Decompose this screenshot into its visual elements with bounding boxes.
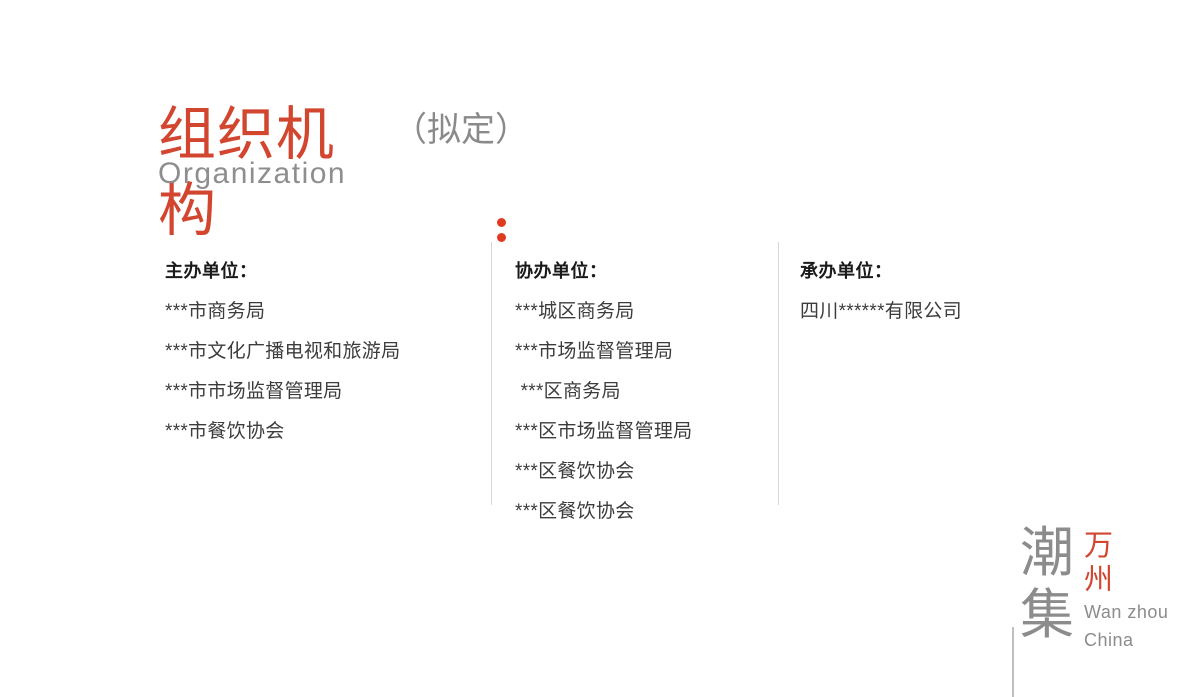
logo-english-line-1: Wan zhou bbox=[1084, 598, 1168, 626]
column-item-list: ***城区商务局 ***市场监督管理局 ***区商务局 ***区市场监督管理局 … bbox=[515, 292, 773, 532]
list-item: ***市餐饮协会 bbox=[165, 412, 495, 452]
logo-accent-char-1: 万 bbox=[1084, 528, 1124, 562]
list-item: ***市市场监督管理局 bbox=[165, 372, 495, 412]
list-item: ***区餐饮协会 bbox=[515, 492, 773, 532]
column-co-organizer: 协办单位： ***城区商务局 ***市场监督管理局 ***区商务局 ***区市场… bbox=[515, 258, 773, 532]
logo-english-line-2: China bbox=[1084, 626, 1168, 654]
list-item: ***市商务局 bbox=[165, 292, 495, 332]
list-item: 四川******有限公司 bbox=[800, 292, 1100, 332]
list-item: ***城区商务局 bbox=[515, 292, 773, 332]
organization-columns: 主办单位： ***市商务局 ***市文化广播电视和旅游局 ***市市场监督管理局… bbox=[0, 258, 1200, 548]
logo-primary-characters: 潮 集 bbox=[1020, 522, 1082, 646]
logo-primary-char-1: 潮 bbox=[1020, 522, 1082, 584]
logo-english-text: Wan zhou China bbox=[1084, 598, 1168, 654]
column-heading: 协办单位： bbox=[515, 258, 773, 284]
list-item: ***市场监督管理局 bbox=[515, 332, 773, 372]
logo-accent-char-2: 州 bbox=[1084, 562, 1124, 596]
list-item: ***区商务局 bbox=[515, 372, 773, 412]
logo-vertical-rule bbox=[1012, 627, 1014, 697]
slide-canvas: 组织机构 Organization （拟定） 主办单位： ***市商务局 ***… bbox=[0, 0, 1200, 675]
list-item: ***区市场监督管理局 bbox=[515, 412, 773, 452]
title-block: 组织机构 Organization （拟定） bbox=[158, 96, 578, 256]
column-host: 承办单位： 四川******有限公司 bbox=[800, 258, 1100, 332]
column-item-list: 四川******有限公司 bbox=[800, 292, 1100, 332]
page-title-english: Organization bbox=[158, 157, 346, 191]
column-heading: 承办单位： bbox=[800, 258, 1100, 284]
title-colon-icon bbox=[497, 215, 509, 245]
column-item-list: ***市商务局 ***市文化广播电视和旅游局 ***市市场监督管理局 ***市餐… bbox=[165, 292, 495, 452]
column-organizer: 主办单位： ***市商务局 ***市文化广播电视和旅游局 ***市市场监督管理局… bbox=[165, 258, 495, 452]
page-title-note: （拟定） bbox=[393, 110, 529, 150]
list-item: ***区餐饮协会 bbox=[515, 452, 773, 492]
brand-logo: 潮 集 万 州 Wan zhou China bbox=[1008, 522, 1193, 672]
list-item: ***市文化广播电视和旅游局 bbox=[165, 332, 495, 372]
logo-primary-char-2: 集 bbox=[1020, 584, 1082, 646]
logo-accent-characters: 万 州 bbox=[1084, 528, 1124, 596]
column-heading: 主办单位： bbox=[165, 258, 495, 284]
